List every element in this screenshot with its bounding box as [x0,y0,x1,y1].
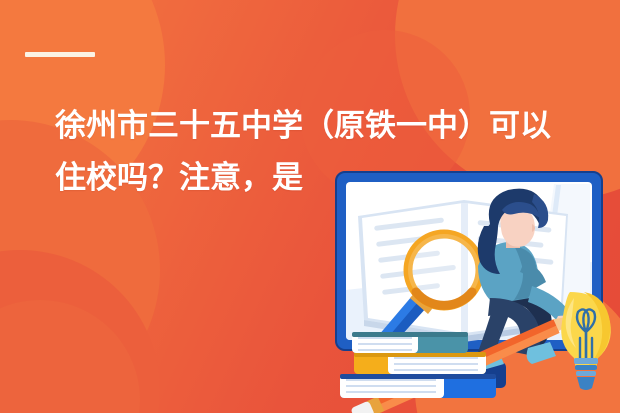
student-researching-illustration [318,170,620,413]
background-blob-bottom-left [0,300,140,413]
background-blob-lower-left [0,250,160,413]
accent-rule [25,52,95,57]
lightbulb-icon [561,292,611,390]
poster-canvas: 徐州市三十五中学（原铁一中）可以住校吗？注意，是 [0,0,620,413]
